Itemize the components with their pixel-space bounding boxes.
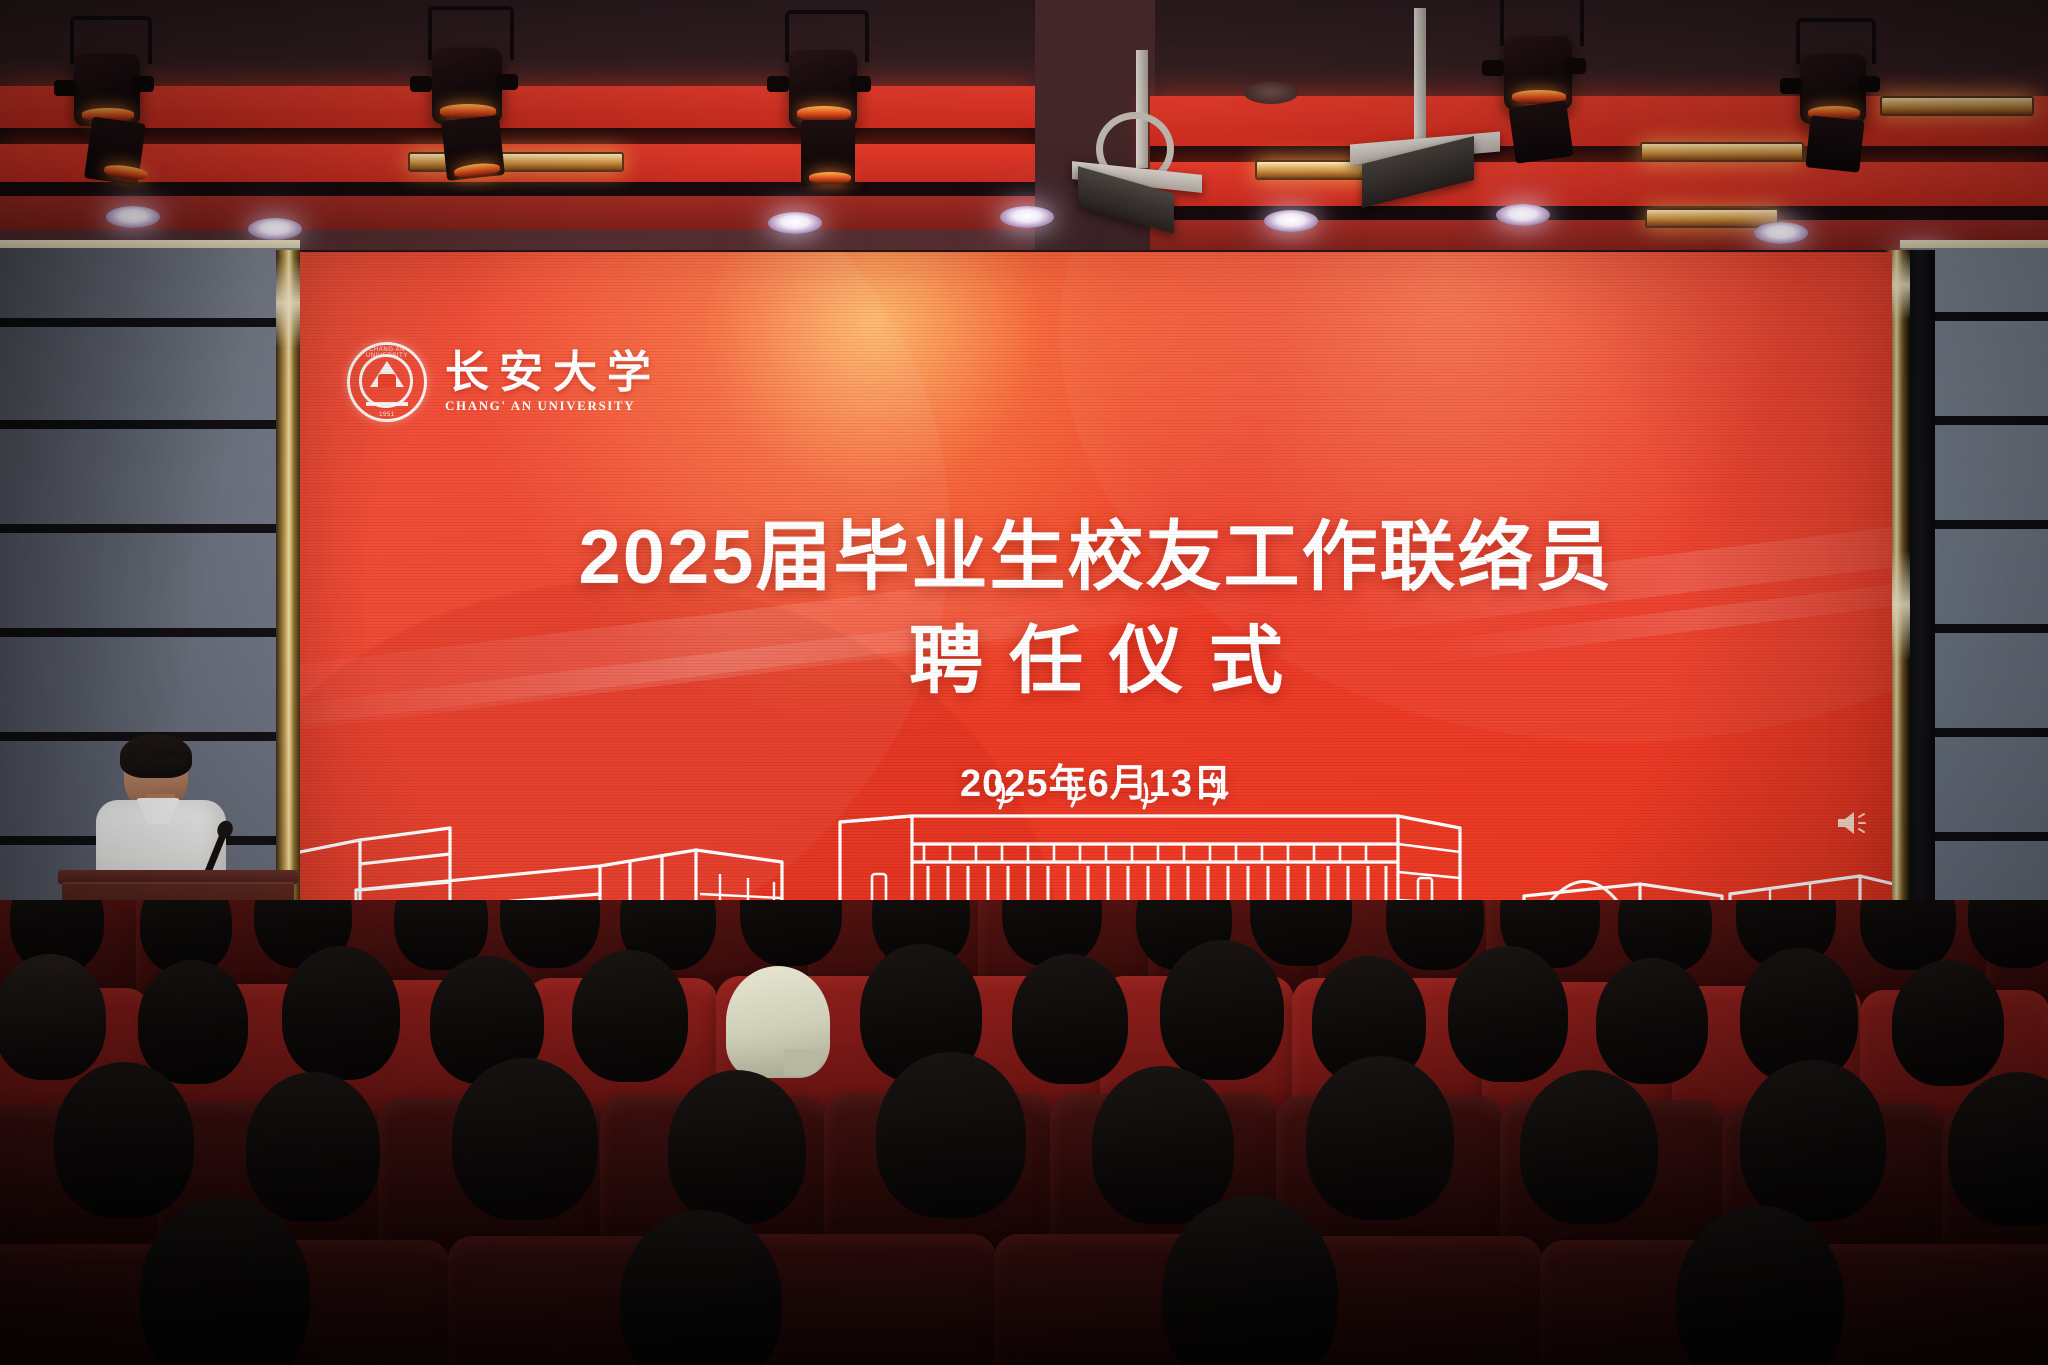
audience-head bbox=[876, 1052, 1026, 1218]
audience-seating bbox=[0, 900, 2048, 1365]
audience-head-with-cap bbox=[726, 966, 830, 1078]
volume-icon bbox=[1836, 808, 1870, 838]
downlight bbox=[1496, 204, 1550, 226]
strip-light bbox=[1880, 96, 2034, 116]
presenter-hair bbox=[120, 734, 192, 778]
audience-head bbox=[54, 1062, 194, 1218]
strip-light bbox=[1645, 208, 1779, 228]
downlight bbox=[1754, 222, 1808, 244]
audience-head bbox=[246, 1072, 380, 1222]
audience-head bbox=[138, 960, 248, 1084]
audience-head bbox=[452, 1058, 598, 1220]
ceiling bbox=[0, 0, 2048, 250]
audience-head bbox=[1892, 960, 2004, 1086]
brass-trim-left bbox=[276, 250, 302, 970]
led-screen: CHANG AN UNIVERSITY 1951 长安大学 CHANG' AN … bbox=[300, 252, 1892, 964]
audience-head bbox=[1596, 958, 1708, 1084]
downlight bbox=[1264, 210, 1318, 232]
audience-head bbox=[0, 954, 106, 1080]
auditorium-photo: CHANG AN UNIVERSITY 1951 长安大学 CHANG' AN … bbox=[0, 0, 2048, 1365]
university-crest-icon: CHANG AN UNIVERSITY 1951 bbox=[347, 342, 427, 422]
ceremony-title-line2: 聘任仪式 bbox=[300, 624, 1892, 698]
audience-head bbox=[1160, 940, 1284, 1080]
audience-head bbox=[1092, 1066, 1234, 1224]
audience-head bbox=[668, 1070, 806, 1224]
strip-light bbox=[408, 152, 624, 172]
downlight bbox=[248, 218, 302, 240]
audience-head bbox=[1012, 954, 1128, 1084]
university-name-cn: 长安大学 bbox=[445, 351, 661, 395]
audience-head bbox=[1448, 946, 1568, 1082]
university-logo-row: CHANG AN UNIVERSITY 1951 长安大学 CHANG' AN … bbox=[347, 342, 661, 422]
audience-head bbox=[1740, 1060, 1886, 1222]
downlight bbox=[106, 206, 160, 228]
university-name-en: CHANG' AN UNIVERSITY bbox=[445, 398, 661, 414]
strip-light bbox=[1640, 142, 1804, 162]
downlight bbox=[1000, 206, 1054, 228]
crest-bottom-text: 1951 bbox=[350, 412, 424, 418]
downlight bbox=[768, 212, 822, 234]
downlight bbox=[1244, 82, 1298, 104]
audience-head bbox=[1306, 1056, 1454, 1220]
audience-head bbox=[572, 950, 688, 1082]
audience-head bbox=[1520, 1070, 1658, 1224]
audience-head bbox=[282, 946, 400, 1080]
ceremony-title-line1: 2025届毕业生校友工作联络员 bbox=[300, 520, 1892, 596]
